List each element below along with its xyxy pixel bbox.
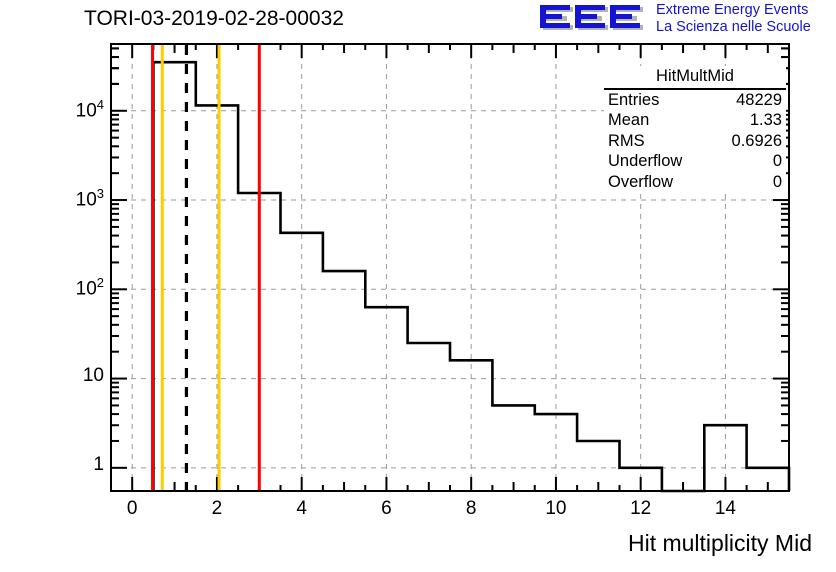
y-tick-label-base: 10: [76, 279, 97, 300]
y-tick-label-base: 1: [93, 454, 104, 475]
x-tick-label: 4: [284, 498, 320, 520]
stats-row: Entries48229: [604, 90, 786, 111]
x-axis-title: Hit multiplicity Mid: [628, 530, 812, 557]
stats-row: RMS0.6926: [604, 131, 786, 152]
stats-row-key: Entries: [608, 90, 659, 111]
stats-row-value: 1.33: [750, 110, 782, 131]
y-tick-label: 102: [40, 275, 104, 300]
y-tick-label-exponent: 4: [97, 97, 104, 112]
y-tick-label-exponent: 3: [97, 186, 104, 201]
stats-row-key: RMS: [608, 131, 645, 152]
root-canvas: TORI-03-2019-02-28-00032 Extreme Energy …: [0, 0, 836, 572]
stats-row-key: Overflow: [608, 172, 673, 193]
marker-lines: [153, 45, 260, 490]
stats-row: Overflow0: [604, 172, 786, 193]
y-tick-label-exponent: 2: [97, 275, 104, 290]
x-tick-label: 0: [114, 498, 150, 520]
stats-row: Mean1.33: [604, 110, 786, 131]
stats-row-value: 0: [773, 151, 782, 172]
y-tick-label-base: 10: [76, 189, 97, 210]
stats-row-value: 0: [773, 172, 782, 193]
stats-box-title: HitMultMid: [604, 66, 786, 90]
x-tick-label: 2: [199, 498, 235, 520]
stats-row-key: Mean: [608, 110, 649, 131]
x-tick-label: 12: [623, 498, 659, 520]
stats-row: Underflow0: [604, 151, 786, 172]
y-tick-label-base: 10: [76, 100, 97, 121]
x-tick-label: 10: [538, 498, 574, 520]
stats-row-value: 0.6926: [732, 131, 782, 152]
stats-row-key: Underflow: [608, 151, 682, 172]
stats-row-value: 48229: [736, 90, 782, 111]
stats-box: HitMultMid Entries48229Mean1.33RMS0.6926…: [604, 66, 786, 192]
y-tick-label: 1: [40, 454, 104, 476]
x-tick-label: 14: [707, 498, 743, 520]
x-tick-label: 8: [453, 498, 489, 520]
y-tick-label-base: 10: [83, 365, 104, 386]
y-tick-label: 103: [40, 186, 104, 211]
y-tick-label: 104: [40, 97, 104, 122]
y-tick-label: 10: [40, 365, 104, 387]
x-tick-label: 6: [368, 498, 404, 520]
